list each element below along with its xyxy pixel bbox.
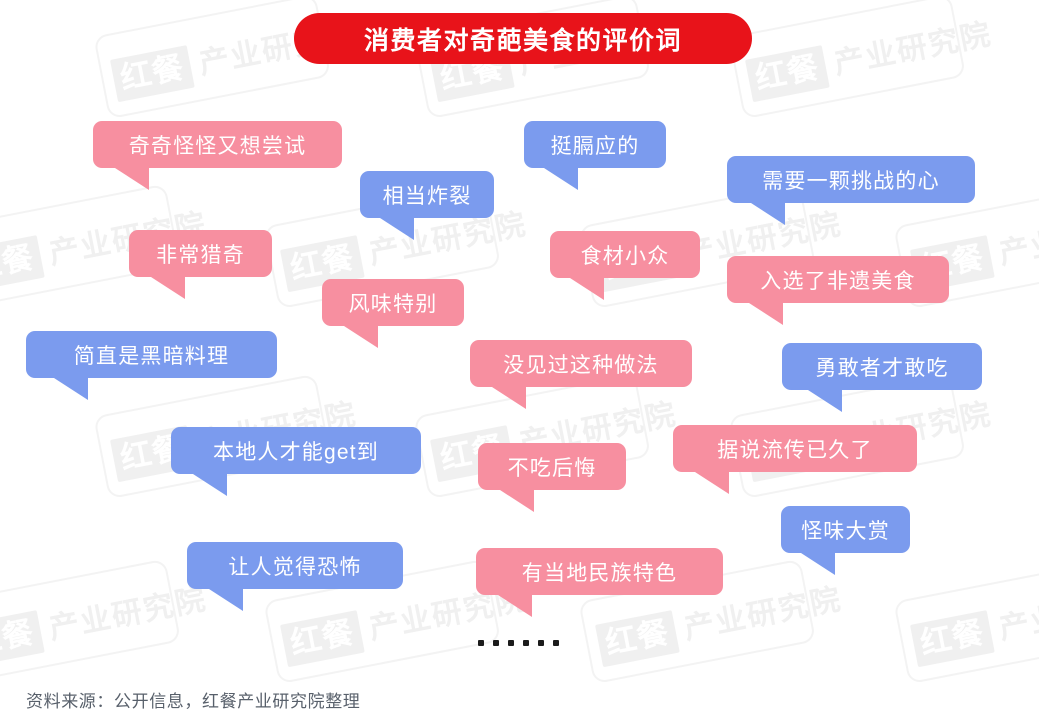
watermark-badge: 红餐 <box>0 235 45 292</box>
ellipsis-dot <box>493 640 499 646</box>
comment-bubble-label: 勇敢者才敢吃 <box>815 352 948 382</box>
bubble-tail <box>344 326 378 348</box>
comment-bubble-label: 据说流传已久了 <box>717 434 872 464</box>
watermark-word: 产业研究院 <box>997 584 1039 644</box>
watermark-frame <box>93 0 331 119</box>
ellipsis-dot <box>553 640 559 646</box>
bubble-tail <box>54 378 88 400</box>
comment-bubble: 食材小众 <box>550 231 700 278</box>
bubble-tail <box>749 303 783 325</box>
infographic-canvas: 红餐产业研究院红餐产业研究院红餐产业研究院红餐产业研究院红餐产业研究院红餐产业研… <box>0 0 1039 721</box>
comment-bubble-label: 本地人才能get到 <box>213 436 379 466</box>
comment-bubble: 据说流传已久了 <box>673 425 917 472</box>
comment-bubble-label: 怪味大赏 <box>801 515 890 545</box>
comment-bubble: 奇奇怪怪又想尝试 <box>93 121 342 168</box>
comment-bubble: 勇敢者才敢吃 <box>782 343 982 390</box>
page-title-text: 消费者对奇葩美食的评价词 <box>364 21 682 57</box>
ellipsis-dot <box>523 640 529 646</box>
watermark-frame <box>0 559 181 685</box>
comment-bubble-label: 没见过这种做法 <box>503 349 658 379</box>
watermark-tile: 红餐产业研究院 <box>745 13 996 102</box>
bubble-tail <box>193 474 227 496</box>
bubble-tail <box>500 490 534 512</box>
bubble-tail <box>380 218 414 240</box>
bubble-tail <box>498 595 532 617</box>
comment-bubble-label: 有当地民族特色 <box>522 557 677 587</box>
comment-bubble: 怪味大赏 <box>781 506 910 553</box>
comment-bubble: 没见过这种做法 <box>470 340 692 387</box>
comment-bubble: 风味特别 <box>322 279 464 326</box>
comment-bubble-label: 奇奇怪怪又想尝试 <box>129 130 307 160</box>
ellipsis-dot <box>508 640 514 646</box>
page-title: 消费者对奇葩美食的评价词 <box>294 13 752 64</box>
comment-bubble-label: 相当炸裂 <box>383 180 472 210</box>
comment-bubble: 入选了非遗美食 <box>727 256 949 303</box>
watermark-badge: 红餐 <box>0 610 45 667</box>
comment-bubble-label: 非常猎奇 <box>156 239 245 269</box>
comment-bubble: 非常猎奇 <box>129 230 272 277</box>
source-note: 资料来源：公开信息，红餐产业研究院整理 <box>26 687 360 712</box>
comment-bubble-label: 挺膈应的 <box>551 130 640 160</box>
comment-bubble: 相当炸裂 <box>360 171 494 218</box>
watermark-badge: 红餐 <box>745 45 830 102</box>
comment-bubble-label: 入选了非遗美食 <box>760 265 915 295</box>
bubble-tail <box>544 168 578 190</box>
watermark-badge: 红餐 <box>280 610 365 667</box>
watermark-word: 产业研究院 <box>832 19 995 79</box>
comment-bubble: 挺膈应的 <box>524 121 666 168</box>
comment-bubble: 简直是黑暗料理 <box>26 331 277 378</box>
bubble-tail <box>492 387 526 409</box>
comment-bubble-label: 不吃后悔 <box>508 452 597 482</box>
watermark-word: 产业研究院 <box>997 209 1039 269</box>
bubble-tail <box>808 390 842 412</box>
comment-bubble: 不吃后悔 <box>478 443 626 490</box>
bubble-tail <box>801 553 835 575</box>
bubble-tail <box>751 203 785 225</box>
watermark-badge: 红餐 <box>910 610 995 667</box>
watermark-badge: 红餐 <box>595 610 680 667</box>
comment-bubble-label: 让人觉得恐怖 <box>228 551 361 581</box>
bubble-tail <box>695 472 729 494</box>
ellipsis-dot <box>538 640 544 646</box>
ellipsis-dot <box>478 640 484 646</box>
comment-bubble: 有当地民族特色 <box>476 548 723 595</box>
comment-bubble-label: 风味特别 <box>349 288 438 318</box>
bubble-tail <box>115 168 149 190</box>
ellipsis-dots <box>478 640 559 646</box>
comment-bubble: 本地人才能get到 <box>171 427 421 474</box>
bubble-tail <box>151 277 185 299</box>
comment-bubble-label: 食材小众 <box>581 240 670 270</box>
comment-bubble-label: 需要一颗挑战的心 <box>762 165 940 195</box>
bubble-tail <box>570 278 604 300</box>
comment-bubble: 需要一颗挑战的心 <box>727 156 975 203</box>
comment-bubble-label: 简直是黑暗料理 <box>74 340 229 370</box>
watermark-frame <box>728 0 966 119</box>
watermark-badge: 红餐 <box>110 45 195 102</box>
watermark-tile: 红餐产业研究院 <box>0 578 211 667</box>
watermark-tile: 红餐产业研究院 <box>910 578 1039 667</box>
comment-bubble: 让人觉得恐怖 <box>187 542 403 589</box>
watermark-word: 产业研究院 <box>47 584 210 644</box>
bubble-tail <box>209 589 243 611</box>
watermark-frame <box>893 559 1039 685</box>
